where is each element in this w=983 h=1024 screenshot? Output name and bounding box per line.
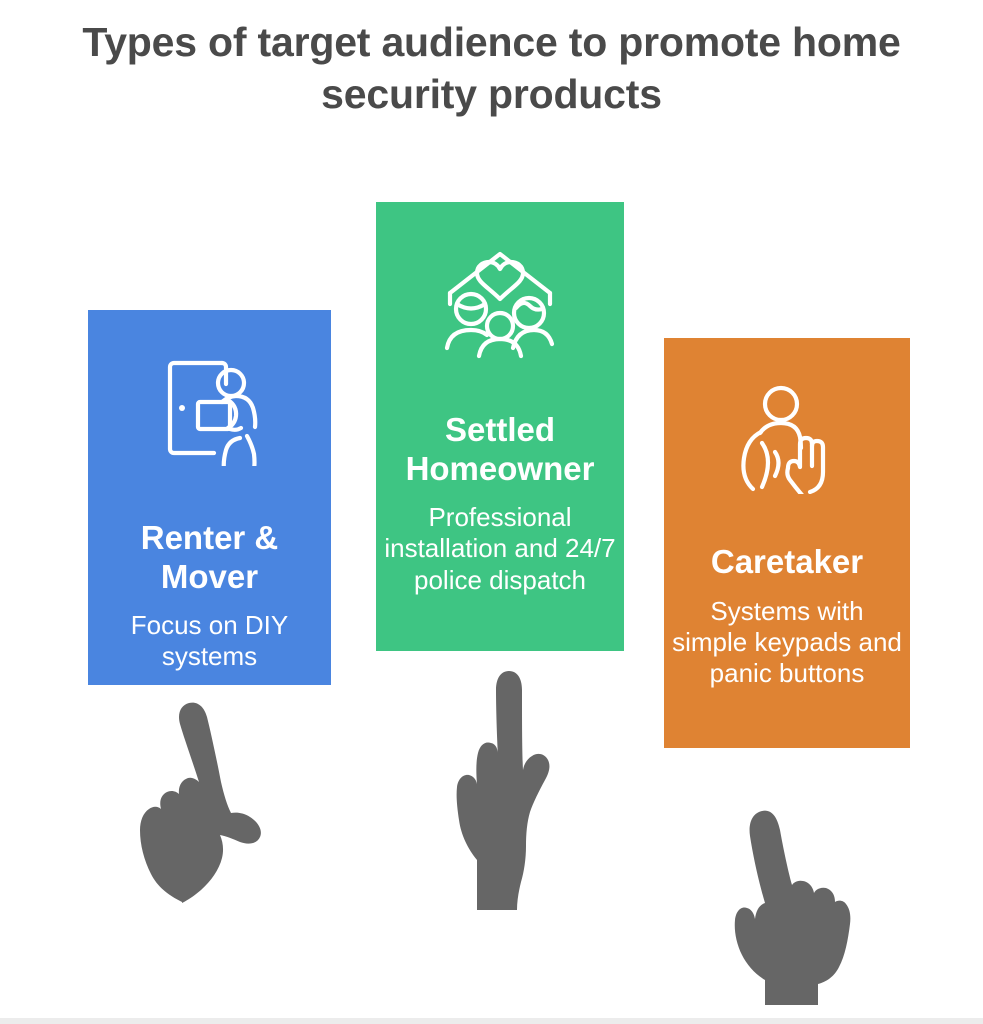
- card-heading-homeowner: Settled Homeowner: [376, 411, 624, 488]
- pointing-hand-middle-icon: [448, 660, 570, 915]
- card-body-caretaker: Systems with simple keypads and panic bu…: [664, 596, 910, 690]
- bottom-divider: [0, 1018, 983, 1024]
- audience-card-homeowner[interactable]: Settled Homeowner Professional installat…: [376, 202, 624, 651]
- audience-card-caretaker[interactable]: Caretaker Systems with simple keypads an…: [664, 338, 910, 748]
- page-title: Types of target audience to promote home…: [50, 16, 933, 121]
- infographic-canvas: Types of target audience to promote home…: [0, 0, 983, 1024]
- pointing-hand-right-icon: [725, 772, 859, 1010]
- person-with-sound-waves-and-hand-icon: [731, 382, 843, 499]
- card-body-homeowner: Professional installation and 24/7 polic…: [376, 502, 624, 596]
- card-heading-caretaker: Caretaker: [664, 543, 910, 582]
- person-carrying-box-through-door-icon: [152, 350, 268, 471]
- family-under-roof-with-heart-icon: [441, 246, 559, 369]
- card-body-renter: Focus on DIY systems: [88, 610, 331, 672]
- pointing-hand-left-icon: [118, 682, 278, 949]
- audience-card-renter[interactable]: Renter & Mover Focus on DIY systems: [88, 310, 331, 685]
- card-heading-renter: Renter & Mover: [88, 519, 331, 596]
